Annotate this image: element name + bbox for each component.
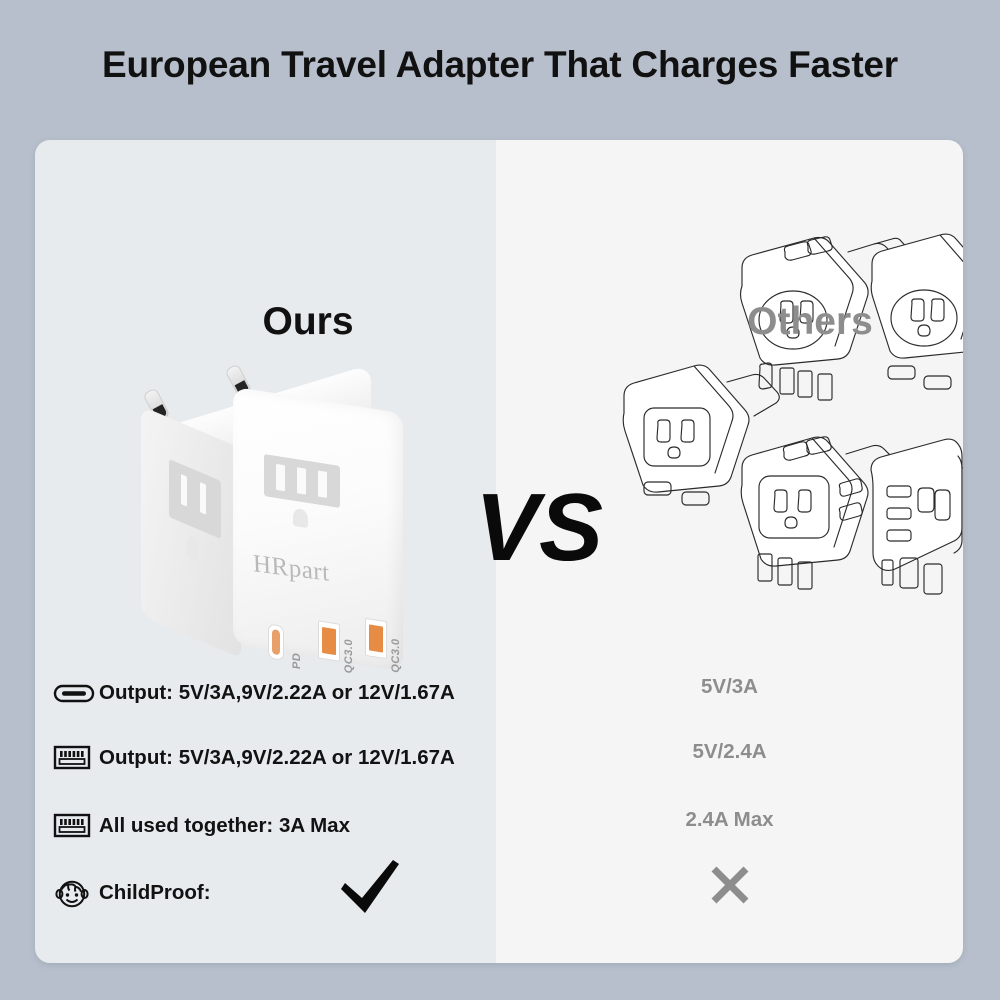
usb-a-icon bbox=[53, 743, 99, 773]
comparison-card: HRpart PD QC3.0 QC3.0 Output: 5V/3A bbox=[35, 140, 963, 963]
spec-row-all-used-together: All used together: 3A Max bbox=[53, 798, 493, 854]
cross-mark-icon bbox=[496, 862, 963, 913]
column-header-others: Others bbox=[690, 300, 930, 344]
child-face-icon bbox=[53, 878, 99, 908]
usb-a-icon bbox=[53, 811, 99, 841]
column-header-ours: Ours bbox=[208, 300, 408, 344]
usb-c-icon bbox=[53, 678, 99, 708]
others-value-usb-c: 5V/3A bbox=[496, 675, 963, 699]
spec-row-text: Output: 5V/3A,9V/2.22A or 12V/1.67A bbox=[99, 681, 455, 705]
infographic-page: European Travel Adapter That Charges Fas… bbox=[0, 0, 1000, 1000]
versus-label: VS bbox=[459, 480, 619, 576]
spec-row-childproof: ChildProof: bbox=[53, 865, 493, 921]
spec-row-text: ChildProof: bbox=[99, 881, 211, 905]
spec-row-usb-c-output: Output: 5V/3A,9V/2.22A or 12V/1.67A bbox=[53, 665, 493, 721]
check-mark-icon bbox=[335, 858, 405, 918]
spec-row-text: All used together: 3A Max bbox=[99, 814, 350, 838]
others-value-total: 2.4A Max bbox=[496, 808, 963, 832]
others-value-usb-a: 5V/2.4A bbox=[496, 740, 963, 764]
page-title: European Travel Adapter That Charges Fas… bbox=[0, 44, 1000, 86]
spec-row-usb-a-output: Output: 5V/3A,9V/2.22A or 12V/1.67A bbox=[53, 730, 493, 786]
spec-row-text: Output: 5V/3A,9V/2.22A or 12V/1.67A bbox=[99, 746, 455, 770]
